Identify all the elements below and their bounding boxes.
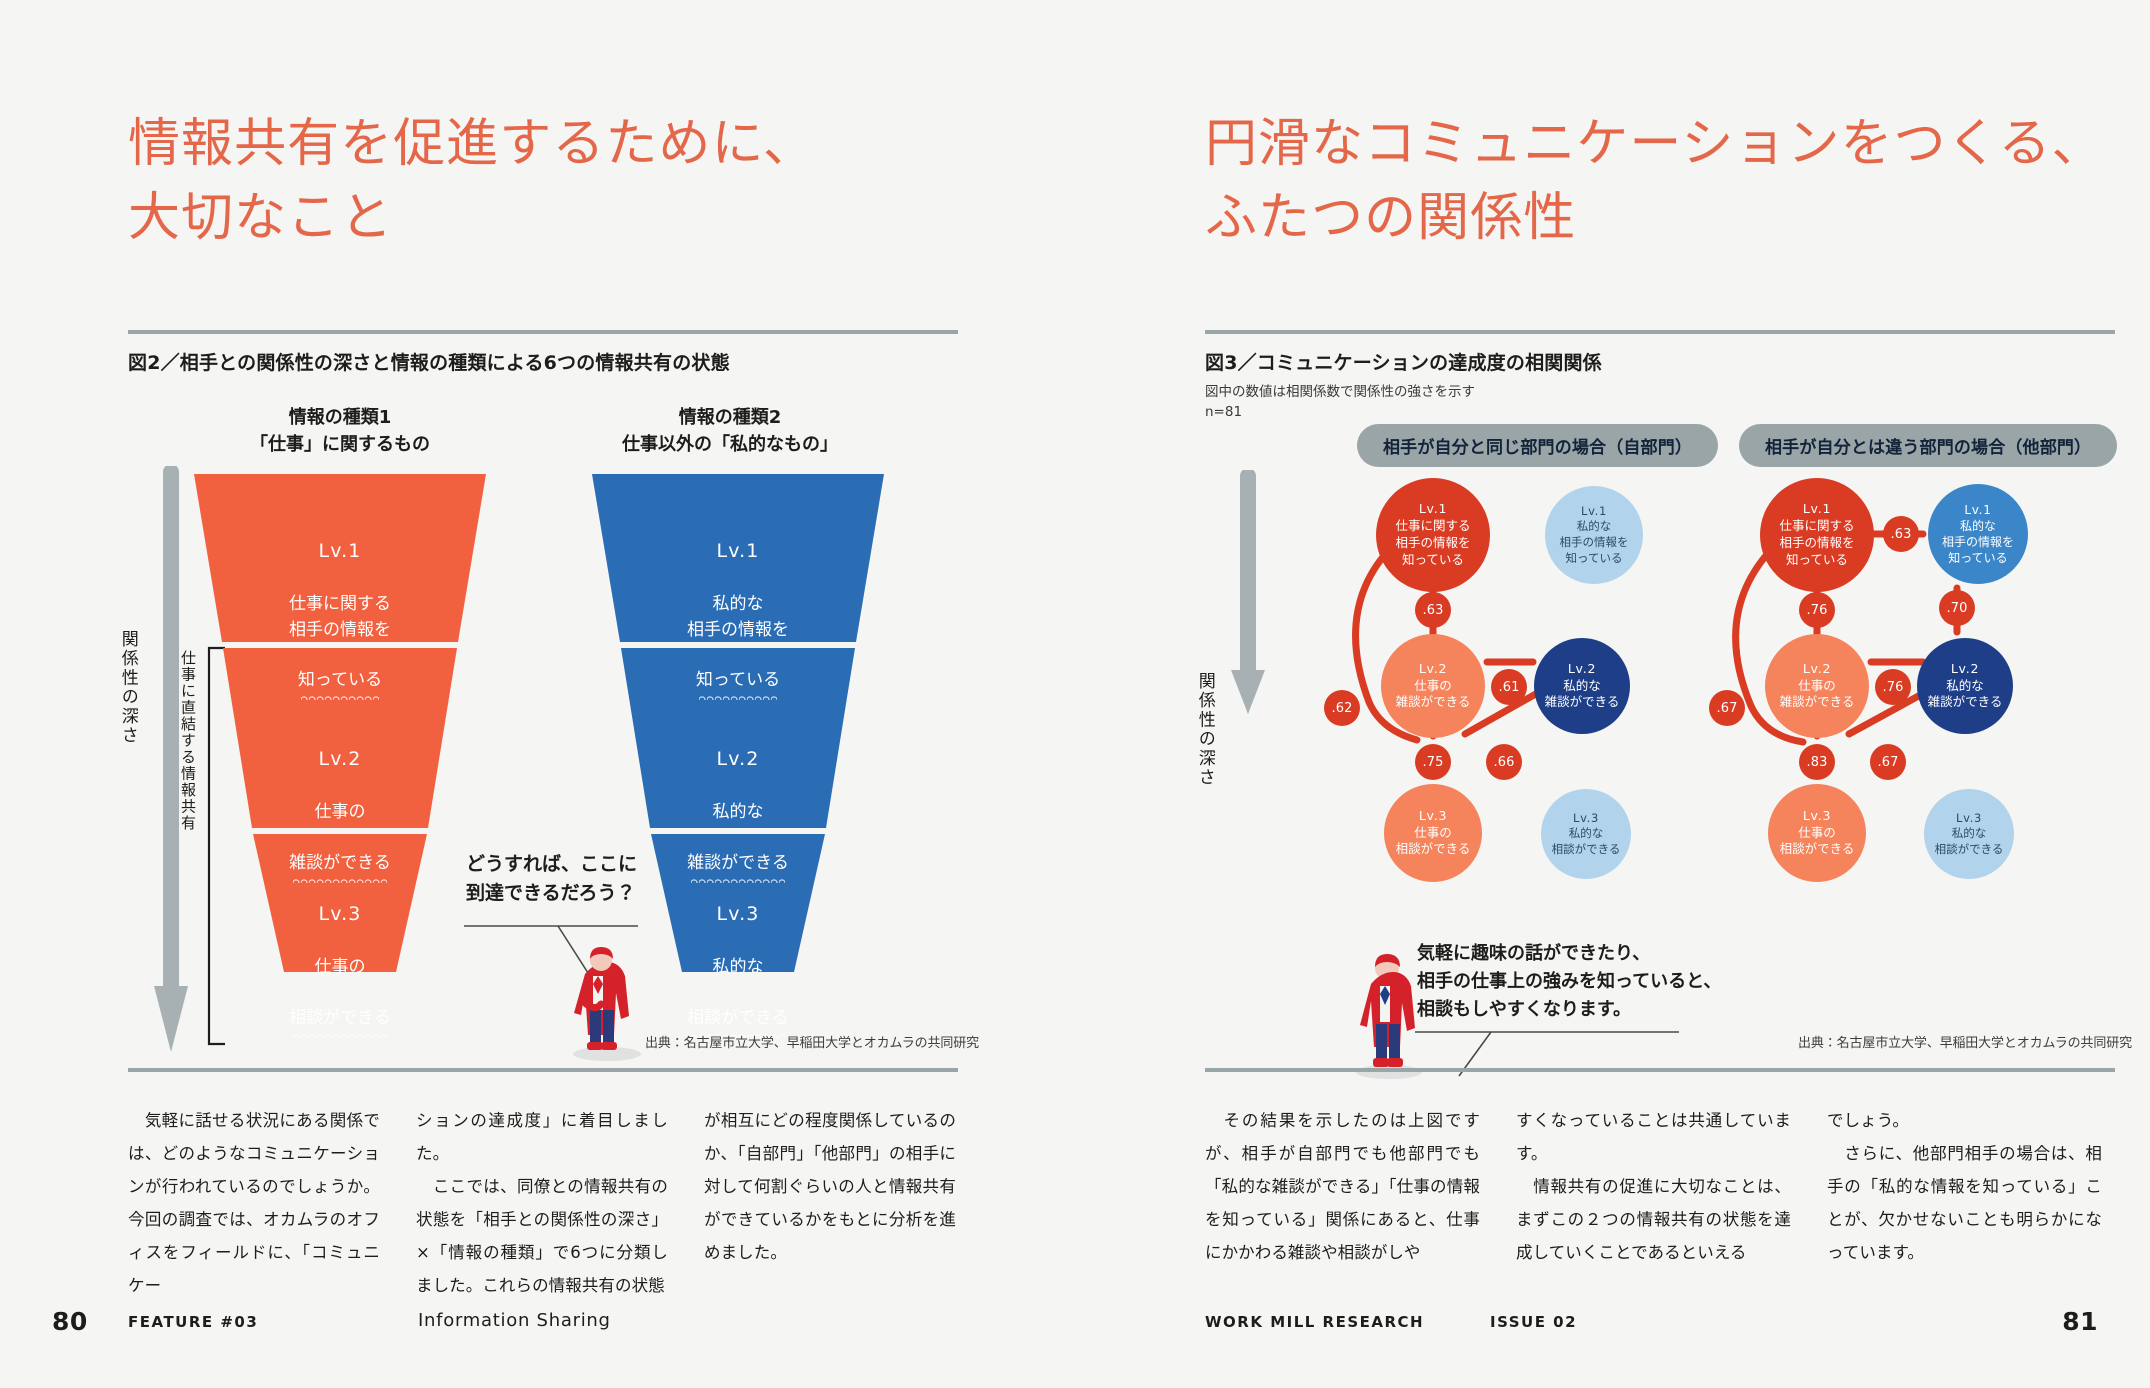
node-own-work-lv2: Lv.2仕事の 雑談ができる (1381, 634, 1485, 738)
node-text: 仕事の 雑談ができる (1396, 678, 1471, 710)
footer-issue-right: ISSUE 02 (1490, 1313, 1577, 1331)
figure3-callout-text: 気軽に趣味の話ができたり、 相手の仕事上の強みを知っていると、 相談もしやすくな… (1417, 940, 1867, 1024)
body-column: でしょう。 さらに、他部門相手の場合は、相手の「私的な情報を知っている」ことが、… (1827, 1104, 2102, 1269)
node-level: Lv.2 (1396, 661, 1471, 678)
node-level: Lv.2 (1780, 661, 1855, 678)
node-other-private-lv3: Lv.3私的な 相談ができる (1924, 789, 2014, 879)
figure3-callout-leader (1413, 1028, 1683, 1080)
right-page: 円滑なコミュニケーションをつくる、 ふたつの関係性 図3／コミュニケーションの達… (1075, 0, 2150, 1388)
node-text: 私的な 雑談ができる (1928, 678, 2003, 710)
cluster-label-other-department: 相手が自分とは違う部門の場合（他部門） (1739, 424, 2117, 467)
node-text: 私的な 相談ができる (1935, 826, 2004, 856)
node-own-work-lv3: Lv.3仕事の 相談ができる (1384, 784, 1482, 882)
node-text: 仕事の 相談ができる (1780, 825, 1855, 857)
node-text: 仕事に関する 相手の情報を 知っている (1779, 518, 1854, 567)
figure3-source: 出典：名古屋市立大学、早稲田大学とオカムラの共同研究 (1798, 1032, 2132, 1051)
edge-value-own-2: .62 (1324, 690, 1360, 726)
node-text: 私的な 相談ができる (1552, 826, 1621, 856)
footer-research-right: WORK MILL RESEARCH (1205, 1313, 1424, 1331)
node-level: Lv.1 (1395, 501, 1470, 518)
node-own-private-lv3: Lv.3私的な 相談ができる (1541, 789, 1631, 879)
node-level: Lv.2 (1928, 661, 2003, 678)
figure2-caption: 図2／相手との関係性の深さと情報の種類による6つの情報共有の状態 (128, 348, 730, 375)
edge-value-own-5: .66 (1486, 744, 1522, 780)
footer-section-left: Information Sharing (418, 1310, 611, 1331)
figure3-caption: 図3／コミュニケーションの達成度の相関関係 (1205, 348, 1602, 375)
edge-value-other-4: .67 (1709, 690, 1745, 726)
folio-left: 80 (52, 1307, 88, 1336)
edge-value-own-4: .75 (1415, 744, 1451, 780)
node-level: Lv.1 (1560, 504, 1629, 520)
node-text: 私的な 雑談ができる (1545, 678, 1620, 710)
edge-value-other-3: .70 (1939, 590, 1975, 626)
node-own-work-lv1: Lv.1仕事に関する 相手の情報を 知っている (1376, 478, 1490, 592)
node-own-private-lv1: Lv.1私的な 相手の情報を 知っている (1545, 486, 1643, 584)
footer-feature-left: FEATURE #03 (128, 1313, 258, 1331)
body-column: が相互にどの程度関係しているのか、「自部門」「他部門」の相手に対して何割ぐらいの… (704, 1104, 956, 1302)
node-other-work-lv2: Lv.2仕事の 雑談ができる (1765, 634, 1869, 738)
left-page: 情報共有を促進するために、 大切なこと 図2／相手との関係性の深さと情報の種類に… (0, 0, 1075, 1388)
body-columns-right: その結果を示したのは上図ですが、相手が自部門でも他部門でも「私的な雑談ができる」… (1205, 1104, 2115, 1269)
node-text: 仕事の 相談ができる (1396, 825, 1471, 857)
edge-value-other-7: .67 (1870, 744, 1906, 780)
figure-bottom-rule-right (1205, 1068, 2115, 1072)
node-own-private-lv2: Lv.2私的な 雑談ができる (1534, 638, 1630, 734)
funnel-column-header-private: 情報の種類2 仕事以外の「私的なもの」 (570, 404, 890, 458)
node-other-private-lv1: Lv.1私的な 相手の情報を 知っている (1928, 484, 2028, 584)
edge-value-other-5: .76 (1875, 669, 1911, 705)
node-level: Lv.3 (1935, 811, 2004, 827)
edge-value-own-3: .61 (1491, 669, 1527, 705)
edge-value-other-6: .83 (1799, 744, 1835, 780)
node-level: Lv.1 (1942, 502, 2014, 518)
figure3-subcaption: 図中の数値は相関係数で関係性の強さを示す n=81 (1205, 382, 1475, 423)
figure2-source: 出典：名古屋市立大学、早稲田大学とオカムラの共同研究 (645, 1032, 979, 1051)
cluster-label-own-department: 相手が自分と同じ部門の場合（自部門） (1357, 424, 1718, 467)
node-level: Lv.3 (1396, 808, 1471, 825)
funnel-callout-text: どうすれば、ここに 到達できるだろう？ (466, 850, 706, 909)
node-text: 仕事の 雑談ができる (1780, 678, 1855, 710)
figure-top-rule-right (1205, 330, 2115, 334)
node-level: Lv.3 (1552, 811, 1621, 827)
page-title-left: 情報共有を促進するために、 大切なこと (128, 108, 816, 256)
magazine-spread: 情報共有を促進するために、 大切なこと 図2／相手との関係性の深さと情報の種類に… (0, 0, 2150, 1388)
depth-axis-label: 関係性の深さ (118, 630, 137, 745)
body-column: ションの達成度」に着目しました。 ここでは、同僚との情報共有の状態を「相手との関… (416, 1104, 668, 1302)
funnel-column-header-work: 情報の種類1 「仕事」に関するもの (190, 404, 490, 458)
body-column: すくなっていることは共通しています。 情報共有の促進に大切なことは、まずこの２つ… (1516, 1104, 1791, 1269)
depth-axis-arrow-right (1227, 470, 1269, 720)
node-other-private-lv2: Lv.2私的な 雑談ができる (1917, 638, 2013, 734)
page-title-right: 円滑なコミュニケーションをつくる、 ふたつの関係性 (1205, 108, 2105, 256)
person-illustration-right (1333, 952, 1443, 1080)
body-column: 気軽に話せる状況にある関係では、どのようなコミュニケーションが行われているのでし… (128, 1104, 380, 1302)
node-other-work-lv3: Lv.3仕事の 相談ができる (1768, 784, 1866, 882)
body-columns-left: 気軽に話せる状況にある関係では、どのようなコミュニケーションが行われているのでし… (128, 1104, 958, 1302)
figure-top-rule-left (128, 330, 958, 334)
person-illustration-left (545, 946, 655, 1062)
node-other-work-lv1: Lv.1仕事に関する 相手の情報を 知っている (1760, 478, 1874, 592)
figure-bottom-rule-left (128, 1068, 958, 1072)
depth-axis-label-right: 関係性の深さ (1195, 672, 1214, 787)
node-text: 仕事に関する 相手の情報を 知っている (1395, 518, 1470, 567)
body-column: その結果を示したのは上図ですが、相手が自部門でも他部門でも「私的な雑談ができる」… (1205, 1104, 1480, 1269)
node-level: Lv.3 (1780, 808, 1855, 825)
edge-value-own-1: .63 (1415, 592, 1451, 628)
node-text: 私的な 相手の情報を 知っている (1942, 519, 2014, 565)
edge-value-other-1: .63 (1883, 516, 1919, 552)
node-level: Lv.1 (1779, 501, 1854, 518)
node-text: 私的な 相手の情報を 知っている (1560, 519, 1629, 564)
node-level: Lv.2 (1545, 661, 1620, 678)
folio-right: 81 (2062, 1307, 2098, 1336)
edge-value-other-2: .76 (1799, 592, 1835, 628)
